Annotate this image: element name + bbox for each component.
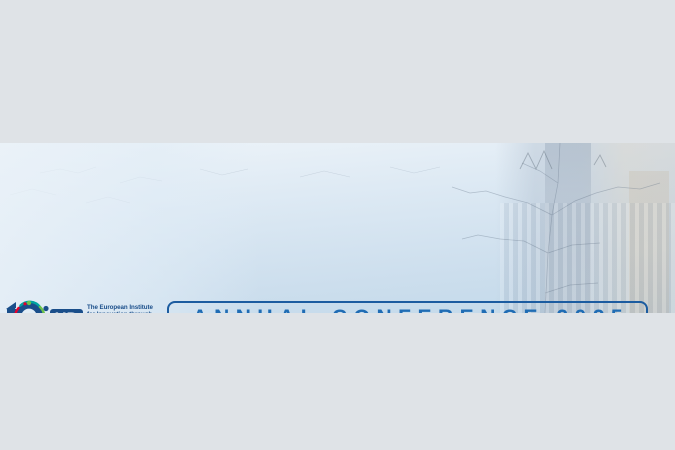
background-branches <box>0 143 675 313</box>
background-left-haze <box>0 143 260 313</box>
svg-text:HD: HD <box>55 310 79 313</box>
background-building <box>495 143 675 313</box>
ihd-logo: HD The European Institute for Innovation… <box>3 295 155 313</box>
background-columns <box>500 203 675 313</box>
conference-banner: HD The European Institute for Innovation… <box>0 143 675 313</box>
tagline-line-2: for Innovation through <box>87 311 153 313</box>
annual-conference-label: ANNUAL CONFERENCE 2025 <box>186 306 629 314</box>
banner-background-photo <box>0 143 675 313</box>
background-tower-left <box>545 143 591 313</box>
annual-conference-pill: ANNUAL CONFERENCE 2025 <box>167 301 648 313</box>
background-tower-right <box>629 171 669 313</box>
background-sky <box>0 143 675 313</box>
ihd-logo-icon: HD <box>3 296 85 313</box>
ihd-logo-mark: HD <box>3 296 85 313</box>
ihd-logo-tagline: The European Institute for Innovation th… <box>87 304 153 313</box>
tagline-line-1: The European Institute <box>87 304 153 311</box>
